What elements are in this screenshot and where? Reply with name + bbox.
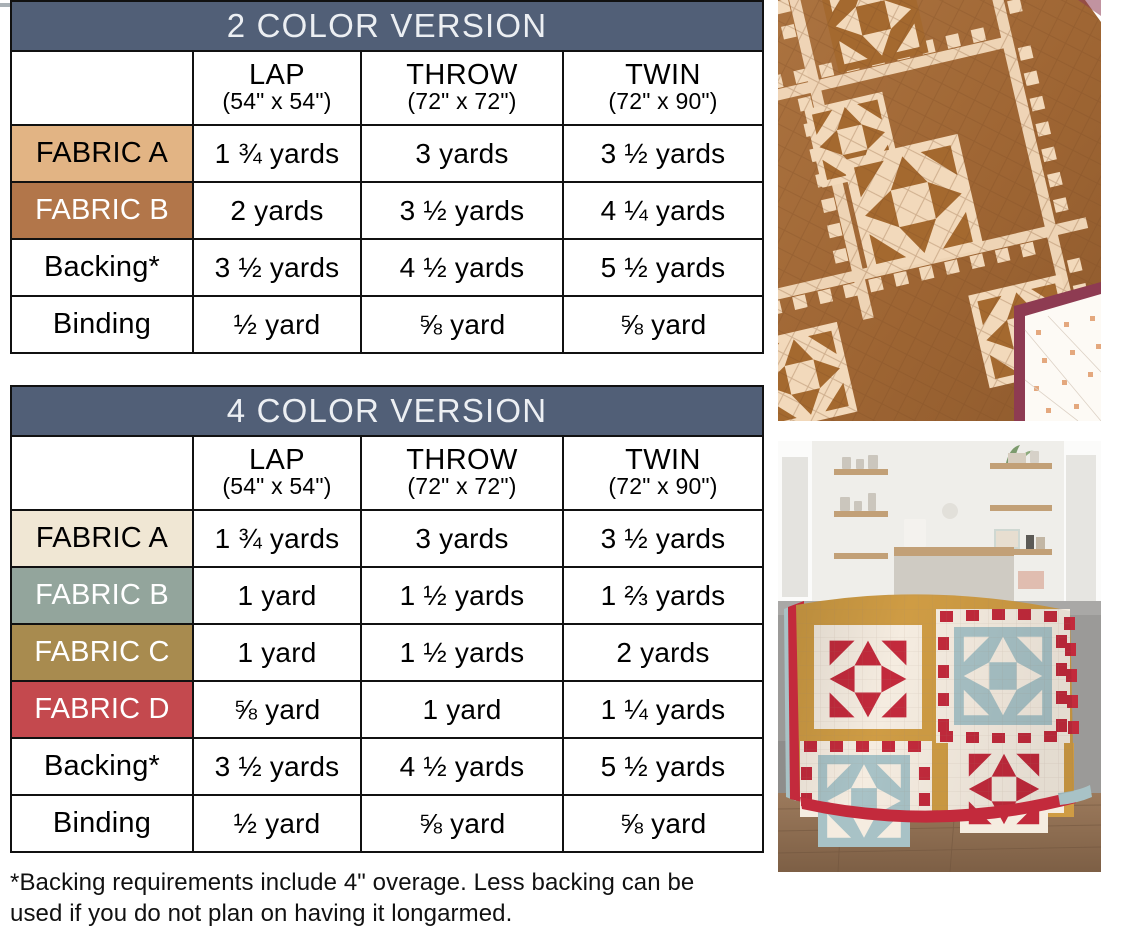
header-twin-label: TWIN bbox=[564, 60, 762, 90]
cell-backing-throw: 4 ½ yards bbox=[361, 239, 563, 296]
cell-binding-twin: ⅝ yard bbox=[563, 795, 763, 852]
table-title-row: 4 COLOR VERSION bbox=[11, 386, 763, 436]
cell-backing-twin: 5 ½ yards bbox=[563, 738, 763, 795]
table-spacer bbox=[10, 354, 762, 385]
header-cell-twin: TWIN (72" x 90") bbox=[563, 436, 763, 510]
mantle bbox=[894, 547, 1014, 556]
header-cell-blank bbox=[11, 51, 193, 125]
row-label-binding: Binding bbox=[11, 795, 193, 852]
header-lap-label: LAP bbox=[194, 445, 360, 475]
cell-backing-lap: 3 ½ yards bbox=[193, 239, 361, 296]
row-label-binding: Binding bbox=[11, 296, 193, 353]
cell-backing-throw: 4 ½ yards bbox=[361, 738, 563, 795]
cell-fabric-a-throw: 3 yards bbox=[361, 125, 563, 182]
cell-fabric-c-lap: 1 yard bbox=[193, 624, 361, 681]
cell-fabric-d-throw: 1 yard bbox=[361, 681, 563, 738]
header-lap-size: (54" x 54") bbox=[194, 475, 360, 499]
cell-binding-throw: ⅝ yard bbox=[361, 795, 563, 852]
header-throw-label: THROW bbox=[362, 445, 562, 475]
cell-backing-lap: 3 ½ yards bbox=[193, 738, 361, 795]
header-cell-twin: TWIN (72" x 90") bbox=[563, 51, 763, 125]
photo-four-color-draped-graphic bbox=[778, 441, 1101, 872]
table-header-row: LAP (54" x 54") THROW (72" x 72") TWIN (… bbox=[11, 436, 763, 510]
row-label-fabric-a: FABRIC A bbox=[11, 510, 193, 567]
header-twin-size: (72" x 90") bbox=[564, 475, 762, 499]
row-label-backing: Backing* bbox=[11, 239, 193, 296]
cell-fabric-b-lap: 1 yard bbox=[193, 567, 361, 624]
table-row: FABRIC D ⅝ yard 1 yard 1 ¼ yards bbox=[11, 681, 763, 738]
table-four-color-version: 4 COLOR VERSION LAP (54" x 54") THROW (7… bbox=[10, 385, 764, 853]
header-cell-throw: THROW (72" x 72") bbox=[361, 436, 563, 510]
row-label-fabric-d: FABRIC D bbox=[11, 681, 193, 738]
header-throw-size: (72" x 72") bbox=[362, 475, 562, 499]
table-row: FABRIC A 1 ¾ yards 3 yards 3 ½ yards bbox=[11, 125, 763, 182]
cell-fabric-a-throw: 3 yards bbox=[361, 510, 563, 567]
cell-fabric-b-twin: 1 ⅔ yards bbox=[563, 567, 763, 624]
table-title-row: 2 COLOR VERSION bbox=[11, 1, 763, 51]
header-throw-size: (72" x 72") bbox=[362, 90, 562, 114]
quilt-four-color bbox=[784, 594, 1092, 847]
quilt-backing-corner bbox=[1014, 282, 1101, 421]
header-cell-throw: THROW (72" x 72") bbox=[361, 51, 563, 125]
cell-fabric-a-lap: 1 ¾ yards bbox=[193, 125, 361, 182]
row-label-backing: Backing* bbox=[11, 738, 193, 795]
table-header-row: LAP (54" x 54") THROW (72" x 72") TWIN (… bbox=[11, 51, 763, 125]
cell-fabric-b-lap: 2 yards bbox=[193, 182, 361, 239]
cell-fabric-b-throw: 3 ½ yards bbox=[361, 182, 563, 239]
header-twin-label: TWIN bbox=[564, 445, 762, 475]
header-cell-lap: LAP (54" x 54") bbox=[193, 51, 361, 125]
cell-binding-lap: ½ yard bbox=[193, 296, 361, 353]
header-cell-lap: LAP (54" x 54") bbox=[193, 436, 361, 510]
table-row: FABRIC B 2 yards 3 ½ yards 4 ¼ yards bbox=[11, 182, 763, 239]
cell-fabric-d-lap: ⅝ yard bbox=[193, 681, 361, 738]
cell-fabric-c-throw: 1 ½ yards bbox=[361, 624, 563, 681]
table-row: FABRIC A 1 ¾ yards 3 yards 3 ½ yards bbox=[11, 510, 763, 567]
table-row: FABRIC B 1 yard 1 ½ yards 1 ⅔ yards bbox=[11, 567, 763, 624]
cell-fabric-a-twin: 3 ½ yards bbox=[563, 510, 763, 567]
header-lap-size: (54" x 54") bbox=[194, 90, 360, 114]
row-label-fabric-a: FABRIC A bbox=[11, 125, 193, 182]
header-twin-size: (72" x 90") bbox=[564, 90, 762, 114]
cell-fabric-b-twin: 4 ¼ yards bbox=[563, 182, 763, 239]
requirements-tables-column: 2 COLOR VERSION LAP (54" x 54") THROW (7… bbox=[10, 0, 762, 853]
cell-binding-throw: ⅝ yard bbox=[361, 296, 563, 353]
table-row: Binding ½ yard ⅝ yard ⅝ yard bbox=[11, 795, 763, 852]
cell-binding-lap: ½ yard bbox=[193, 795, 361, 852]
backing-footnote: *Backing requirements include 4" overage… bbox=[10, 868, 750, 929]
cell-fabric-d-twin: 1 ¼ yards bbox=[563, 681, 763, 738]
header-lap-label: LAP bbox=[194, 60, 360, 90]
table-two-color-version: 2 COLOR VERSION LAP (54" x 54") THROW (7… bbox=[10, 0, 764, 354]
table-row: FABRIC C 1 yard 1 ½ yards 2 yards bbox=[11, 624, 763, 681]
table-title: 2 COLOR VERSION bbox=[11, 1, 763, 51]
row-label-fabric-b: FABRIC B bbox=[11, 567, 193, 624]
cell-fabric-a-twin: 3 ½ yards bbox=[563, 125, 763, 182]
table-row: Backing* 3 ½ yards 4 ½ yards 5 ½ yards bbox=[11, 239, 763, 296]
row-label-fabric-c: FABRIC C bbox=[11, 624, 193, 681]
table-row: Binding ½ yard ⅝ yard ⅝ yard bbox=[11, 296, 763, 353]
cell-binding-twin: ⅝ yard bbox=[563, 296, 763, 353]
header-throw-label: THROW bbox=[362, 60, 562, 90]
cell-fabric-b-throw: 1 ½ yards bbox=[361, 567, 563, 624]
cell-fabric-c-twin: 2 yards bbox=[563, 624, 763, 681]
cell-backing-twin: 5 ½ yards bbox=[563, 239, 763, 296]
table-title: 4 COLOR VERSION bbox=[11, 386, 763, 436]
photo-two-color-detail bbox=[778, 0, 1101, 421]
table-row: Backing* 3 ½ yards 4 ½ yards 5 ½ yards bbox=[11, 738, 763, 795]
cell-fabric-a-lap: 1 ¾ yards bbox=[193, 510, 361, 567]
header-cell-blank bbox=[11, 436, 193, 510]
row-label-fabric-b: FABRIC B bbox=[11, 182, 193, 239]
photo-two-color-detail-graphic bbox=[778, 0, 1101, 421]
photo-four-color-draped bbox=[778, 441, 1101, 872]
